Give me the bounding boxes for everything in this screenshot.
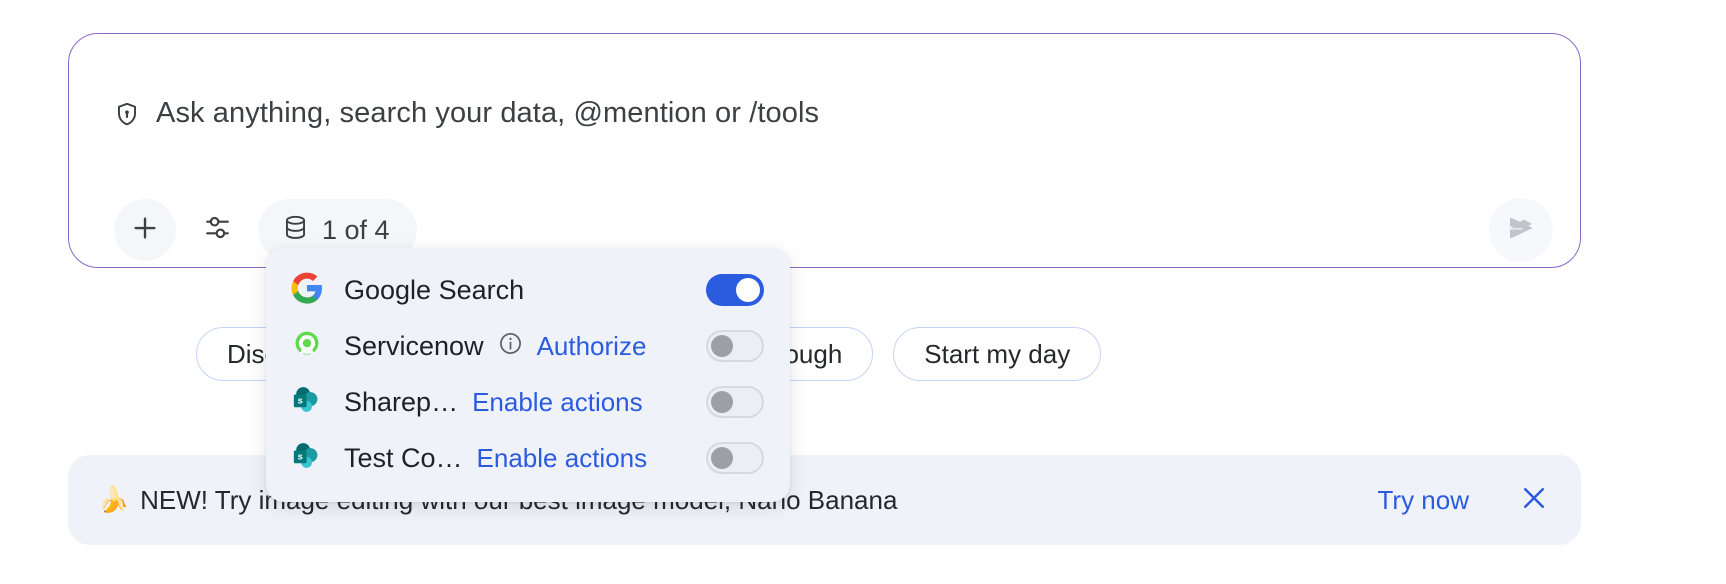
dropdown-row-label: Google Search <box>344 275 524 306</box>
enable-actions-link[interactable]: Enable actions <box>477 443 648 474</box>
promo-banner-actions: Try now <box>1378 455 1550 545</box>
dropdown-row-label: Test Co… <box>344 443 463 474</box>
dropdown-row-google-search[interactable]: Google Search <box>266 262 790 318</box>
google-g-icon <box>290 271 344 310</box>
data-sources-count: 1 of 4 <box>322 215 390 246</box>
chat-composer-screen: Ask anything, search your data, @mention… <box>0 0 1726 584</box>
send-button[interactable] <box>1489 198 1553 262</box>
sharepoint-toggle[interactable] <box>706 386 764 418</box>
try-now-link[interactable]: Try now <box>1378 485 1470 516</box>
svg-text:s: s <box>298 451 303 461</box>
composer-placeholder-row[interactable]: Ask anything, search your data, @mention… <box>114 97 819 130</box>
dropdown-row-test-connector[interactable]: s Test Co… Enable actions <box>266 430 790 486</box>
sharepoint-icon: s <box>290 439 344 478</box>
close-icon[interactable] <box>1519 483 1549 518</box>
prompt-input-placeholder[interactable]: Ask anything, search your data, @mention… <box>156 97 819 130</box>
banana-emoji-icon: 🍌 <box>98 488 129 513</box>
tune-icon <box>203 213 232 247</box>
servicenow-toggle[interactable] <box>706 330 764 362</box>
suggestion-chip-label: Start my day <box>924 339 1070 370</box>
authorize-link[interactable]: Authorize <box>537 331 647 362</box>
dropdown-row-servicenow[interactable]: Servicenow Authorize <box>266 318 790 374</box>
tools-settings-button[interactable] <box>186 199 248 261</box>
enable-actions-link[interactable]: Enable actions <box>472 387 643 418</box>
database-icon <box>282 214 309 246</box>
test-connector-toggle[interactable] <box>706 442 764 474</box>
info-icon[interactable] <box>484 331 523 361</box>
suggestion-chip[interactable]: Start my day <box>893 327 1101 381</box>
google-search-toggle[interactable] <box>706 274 764 306</box>
send-icon <box>1504 211 1538 250</box>
shield-lock-icon <box>114 100 140 128</box>
prompt-composer[interactable]: Ask anything, search your data, @mention… <box>68 33 1581 268</box>
svg-text:s: s <box>298 395 303 405</box>
add-attachment-button[interactable] <box>114 199 176 261</box>
plus-icon <box>130 213 160 248</box>
dropdown-row-label: Sharep… <box>344 387 458 418</box>
dropdown-row-label: Servicenow <box>344 331 484 362</box>
dropdown-row-sharepoint[interactable]: s Sharep… Enable actions <box>266 374 790 430</box>
sharepoint-icon: s <box>290 383 344 422</box>
servicenow-icon <box>290 327 344 366</box>
data-sources-dropdown: Google Search Servicenow Authorize <box>266 248 790 502</box>
